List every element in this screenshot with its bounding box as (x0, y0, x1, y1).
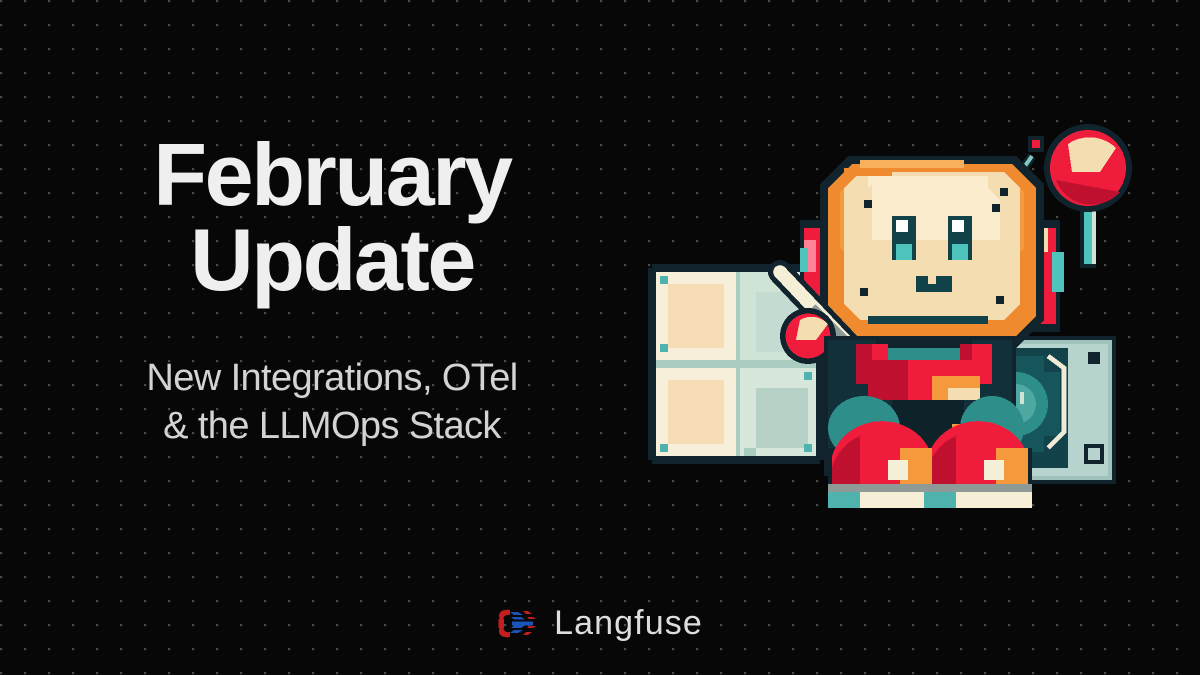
page-subtitle: New Integrations, OTel & the LLMOps Stac… (72, 355, 592, 451)
brand-lockup: Langfuse (0, 604, 1200, 643)
pixel-art-robot-illustration (636, 108, 1156, 520)
poster-canvas: February Update New Integrations, OTel &… (0, 0, 1200, 675)
page-title: February Update (72, 132, 592, 303)
hero-copy: February Update New Integrations, OTel &… (72, 132, 592, 450)
langfuse-logo-icon (497, 608, 537, 639)
brand-wordmark: Langfuse (554, 604, 703, 643)
